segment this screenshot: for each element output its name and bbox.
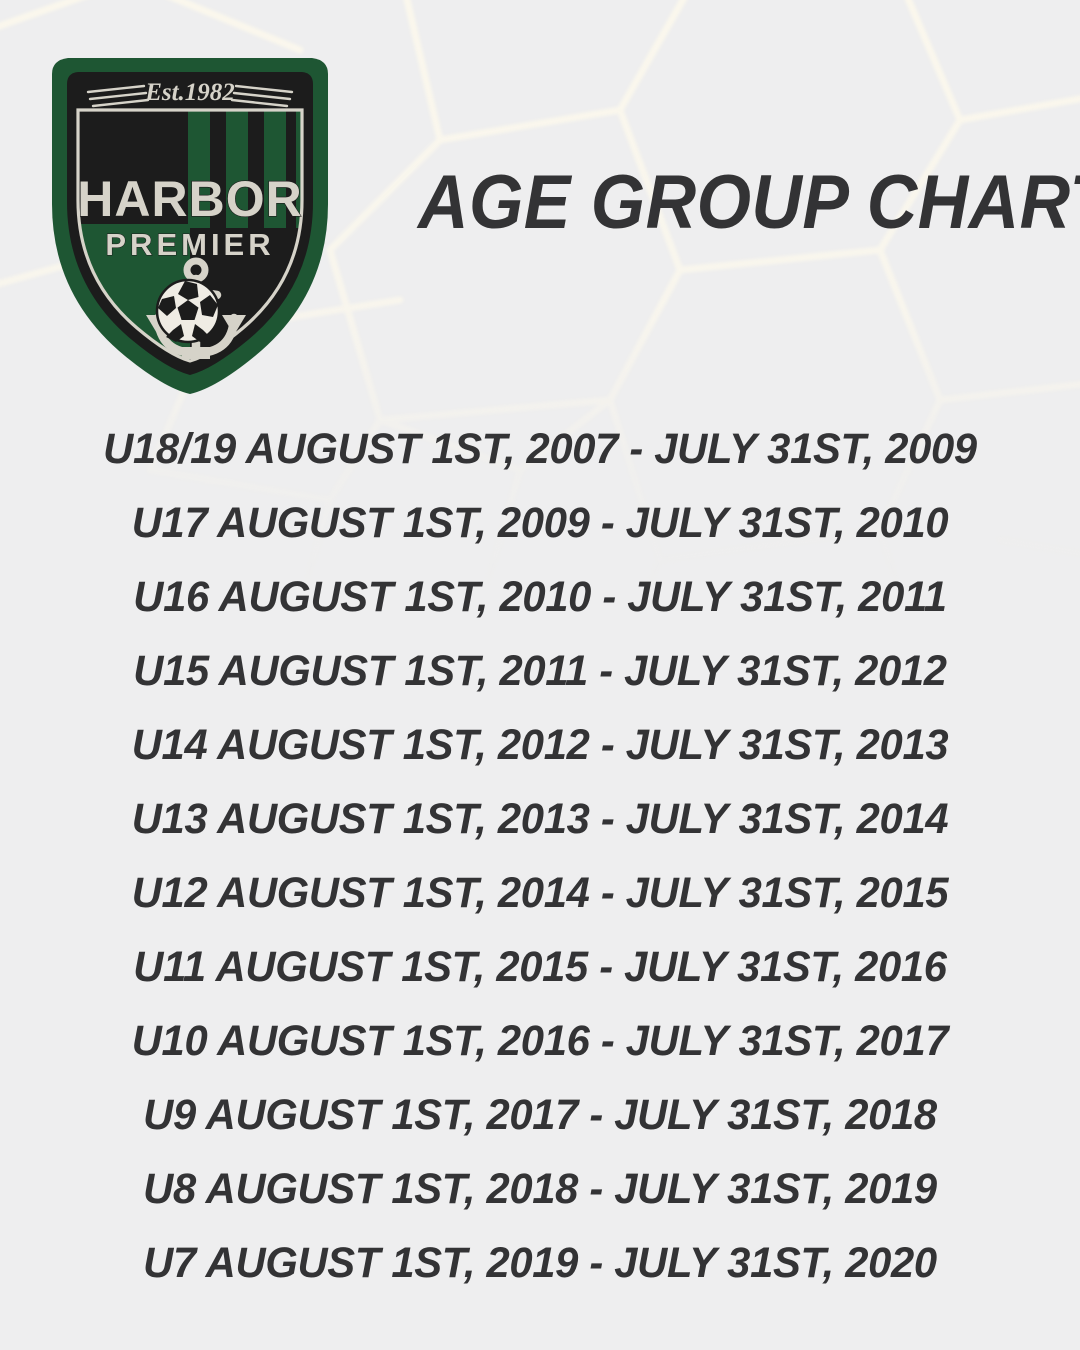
logo-club-name: HARBOR: [77, 171, 302, 227]
age-group-row: U11 AUGUST 1ST, 2015 - JULY 31ST, 2016: [16, 930, 1064, 1004]
age-group-row: U15 AUGUST 1ST, 2011 - JULY 31ST, 2012: [16, 634, 1064, 708]
age-group-row: U17 AUGUST 1ST, 2009 - JULY 31ST, 2010: [16, 486, 1064, 560]
est-year-text: Est.1982: [144, 79, 235, 106]
age-group-list: U18/19 AUGUST 1ST, 2007 - JULY 31ST, 200…: [0, 412, 1080, 1300]
club-logo: Est.1982 HARBOR PREMIER: [30, 28, 350, 396]
age-group-row: U18/19 AUGUST 1ST, 2007 - JULY 31ST, 200…: [16, 412, 1064, 486]
logo-club-sub: PREMIER: [105, 227, 274, 262]
page-title: AGE GROUP CHART: [418, 160, 988, 246]
age-group-row: U14 AUGUST 1ST, 2012 - JULY 31ST, 2013: [16, 708, 1064, 782]
age-group-row: U13 AUGUST 1ST, 2013 - JULY 31ST, 2014: [16, 782, 1064, 856]
age-group-row: U10 AUGUST 1ST, 2016 - JULY 31ST, 2017: [16, 1004, 1064, 1078]
page-header: Est.1982 HARBOR PREMIER: [0, 0, 1080, 400]
age-group-row: U12 AUGUST 1ST, 2014 - JULY 31ST, 2015: [16, 856, 1064, 930]
age-group-row: U9 AUGUST 1ST, 2017 - JULY 31ST, 2018: [16, 1078, 1064, 1152]
age-group-row: U16 AUGUST 1ST, 2010 - JULY 31ST, 2011: [16, 560, 1064, 634]
age-group-row: U8 AUGUST 1ST, 2018 - JULY 31ST, 2019: [16, 1152, 1064, 1226]
age-group-row: U7 AUGUST 1ST, 2019 - JULY 31ST, 2020: [16, 1226, 1064, 1300]
